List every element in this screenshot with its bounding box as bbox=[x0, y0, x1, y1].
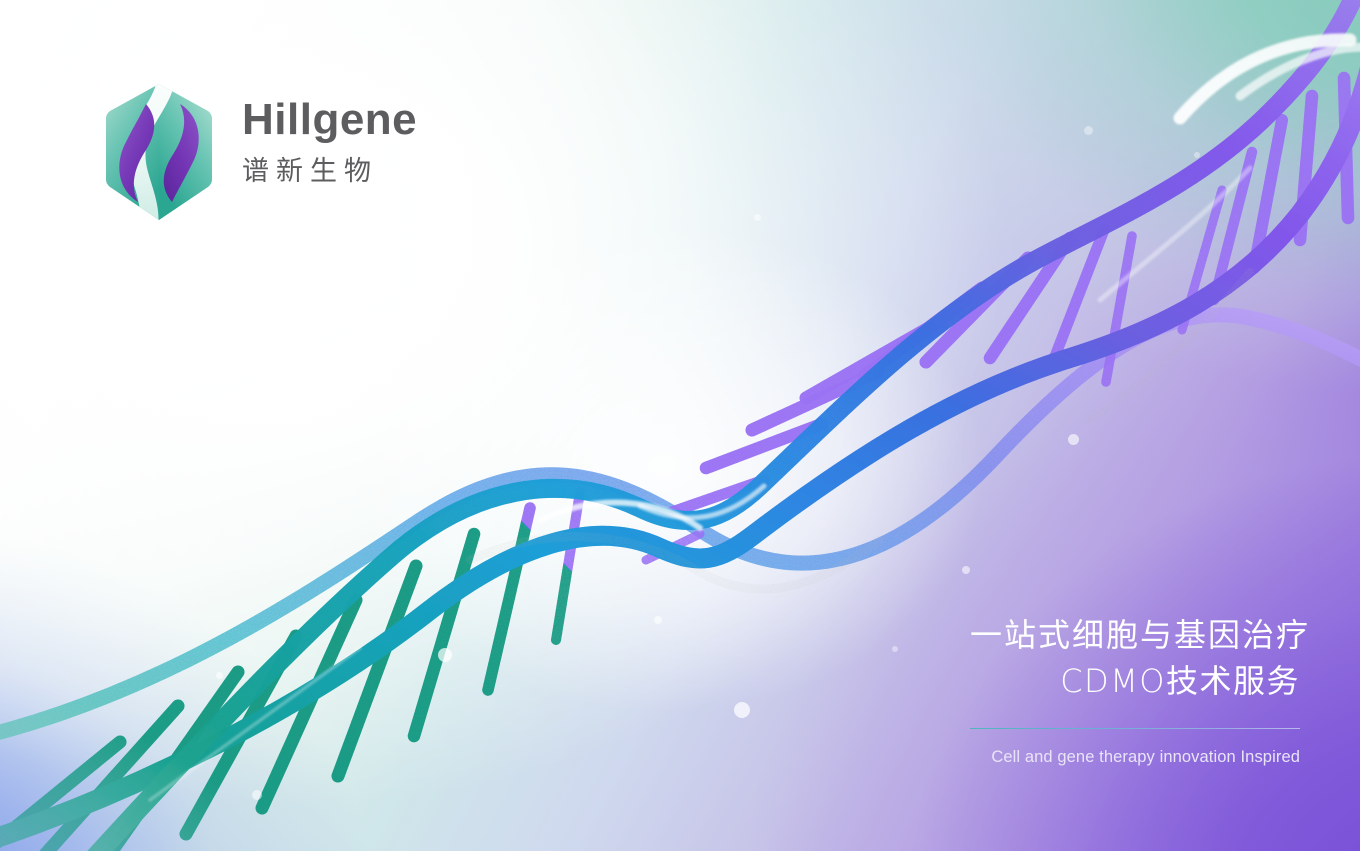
tagline-subline: Cell and gene therapy innovation Inspire… bbox=[970, 749, 1300, 766]
brand-name-cn: 谱新生物 bbox=[242, 158, 417, 185]
tagline-divider bbox=[970, 728, 1300, 729]
brand-text-group: Hillgene 谱新生物 bbox=[242, 78, 417, 185]
banner-canvas: Hillgene 谱新生物 一站式细胞与基因治疗 CDMO技术服务 Cell a… bbox=[0, 0, 1360, 851]
brand-logo-block: Hillgene 谱新生物 bbox=[100, 78, 417, 226]
hillgene-logo-icon bbox=[100, 78, 218, 226]
tagline-block: 一站式细胞与基因治疗 CDMO技术服务 Cell and gene therap… bbox=[970, 612, 1300, 766]
tagline-headline-line1: 一站式细胞与基因治疗 bbox=[970, 612, 1300, 658]
brand-name-en: Hillgene bbox=[242, 98, 417, 142]
tagline-headline-line2: CDMO技术服务 bbox=[970, 658, 1300, 704]
